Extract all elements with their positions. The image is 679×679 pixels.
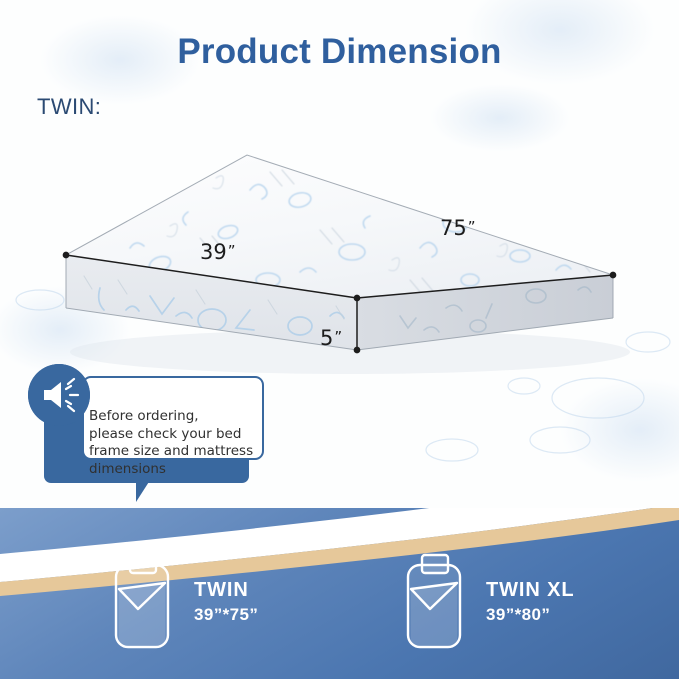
size-label: TWIN: (37, 94, 101, 120)
bed-icon (108, 553, 176, 651)
size-option-twin-xl[interactable]: TWIN XL 39”*80” (400, 553, 575, 651)
size-option-name: TWIN (194, 579, 258, 602)
dimension-label-width: 39” (200, 240, 236, 264)
infographic-canvas: Product Dimension TWIN: (0, 0, 679, 679)
size-option-text: TWIN 39”*75” (194, 579, 258, 626)
divider-arc (0, 508, 679, 598)
dimension-label-thickness: 5” (320, 326, 342, 350)
speaker-icon (28, 364, 90, 426)
callout-text: Before ordering, please check your bed f… (89, 408, 265, 478)
page-title: Product Dimension (0, 32, 679, 72)
callout-line: please check your bed (89, 426, 265, 444)
mattress-illustration (0, 120, 679, 400)
dimension-label-length: 75” (440, 216, 476, 240)
size-option-text: TWIN XL 39”*80” (486, 579, 575, 626)
size-option-twin[interactable]: TWIN 39”*75” (108, 553, 258, 651)
size-option-name: TWIN XL (486, 579, 575, 602)
callout-line: frame size and mattress (89, 443, 265, 461)
size-option-dimensions: 39”*80” (486, 604, 575, 626)
callout-tail (136, 474, 154, 502)
bed-icon (400, 553, 468, 651)
callout-line: Before ordering, (89, 408, 265, 426)
size-option-dimensions: 39”*75” (194, 604, 258, 626)
callout-line: dimensions (89, 461, 265, 479)
note-callout: Before ordering, please check your bed f… (28, 364, 268, 509)
size-options-footer (0, 508, 679, 679)
